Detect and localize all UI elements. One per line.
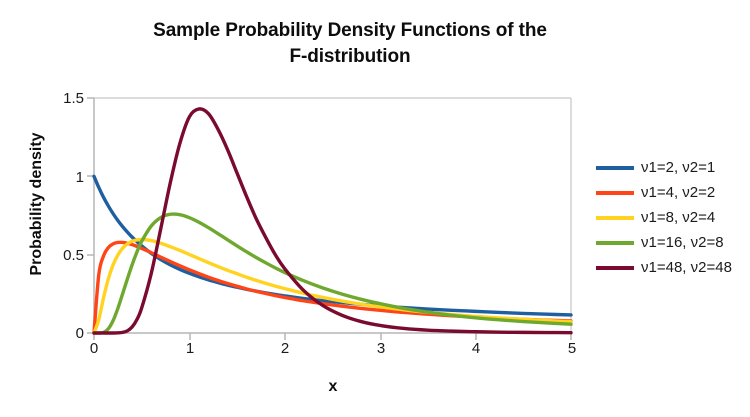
series-line-3 xyxy=(94,214,571,333)
legend-item-1[interactable]: ν1=4, ν2=2 xyxy=(596,180,732,205)
chart-figure: Sample Probability Density Functions of … xyxy=(0,0,750,417)
legend-label-4: ν1=48, ν2=48 xyxy=(641,259,732,276)
legend-label-1: ν1=4, ν2=2 xyxy=(641,184,715,201)
legend-swatch-icon-4 xyxy=(596,266,634,270)
legend-item-3[interactable]: ν1=16, ν2=8 xyxy=(596,230,732,255)
legend-swatch-icon-3 xyxy=(596,241,634,245)
legend-label-0: ν1=2, ν2=1 xyxy=(641,159,715,176)
legend-item-4[interactable]: ν1=48, ν2=48 xyxy=(596,255,732,280)
legend-swatch-icon-1 xyxy=(596,191,634,195)
chart-legend: ν1=2, ν2=1 ν1=4, ν2=2 ν1=8, ν2=4 ν1=16, … xyxy=(596,155,732,280)
legend-item-0[interactable]: ν1=2, ν2=1 xyxy=(596,155,732,180)
legend-swatch-icon-2 xyxy=(596,216,634,220)
legend-swatch-icon-0 xyxy=(596,166,634,170)
legend-label-3: ν1=16, ν2=8 xyxy=(641,234,724,251)
legend-label-2: ν1=8, ν2=4 xyxy=(641,209,715,226)
data-curves xyxy=(94,109,571,333)
legend-item-2[interactable]: ν1=8, ν2=4 xyxy=(596,205,732,230)
